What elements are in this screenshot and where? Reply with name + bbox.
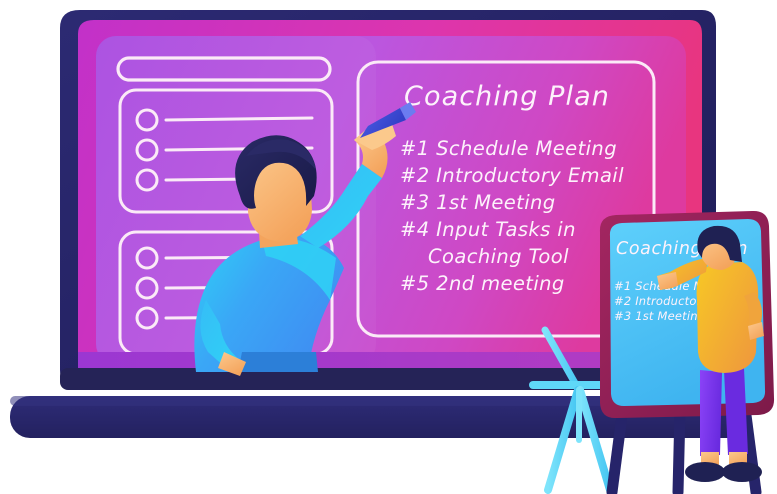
illustration-scene: Coaching Plan #1 Schedule Meeting #2 Int… [0, 0, 777, 494]
plan-item-4: #4 Input Tasks in [400, 218, 576, 241]
plan-item-1: #1 Schedule Meeting [400, 137, 617, 160]
flipchart-item-3: #3 1st Meeting [614, 309, 705, 323]
small-person-torso [697, 262, 759, 373]
coaching-plan-illustration: Coaching Plan #1 Schedule Meeting #2 Int… [0, 0, 777, 494]
small-person-right-shoe [722, 462, 762, 482]
small-person-left-leg [700, 370, 722, 456]
plan-item-2: #2 Introductory Email [400, 164, 624, 187]
plan-item-5: #5 2nd meeting [400, 272, 565, 295]
easel-leg-navy-mid [678, 410, 680, 492]
plan-item-3: #3 1st Meeting [400, 191, 556, 214]
plan-item-4-cont: Coaching Tool [428, 245, 569, 268]
small-person-left-shoe [685, 462, 725, 482]
main-person-waist [238, 352, 318, 372]
small-person-right-leg [724, 368, 748, 455]
card-one-line-1 [166, 118, 312, 120]
coaching-plan-heading: Coaching Plan [404, 81, 610, 112]
